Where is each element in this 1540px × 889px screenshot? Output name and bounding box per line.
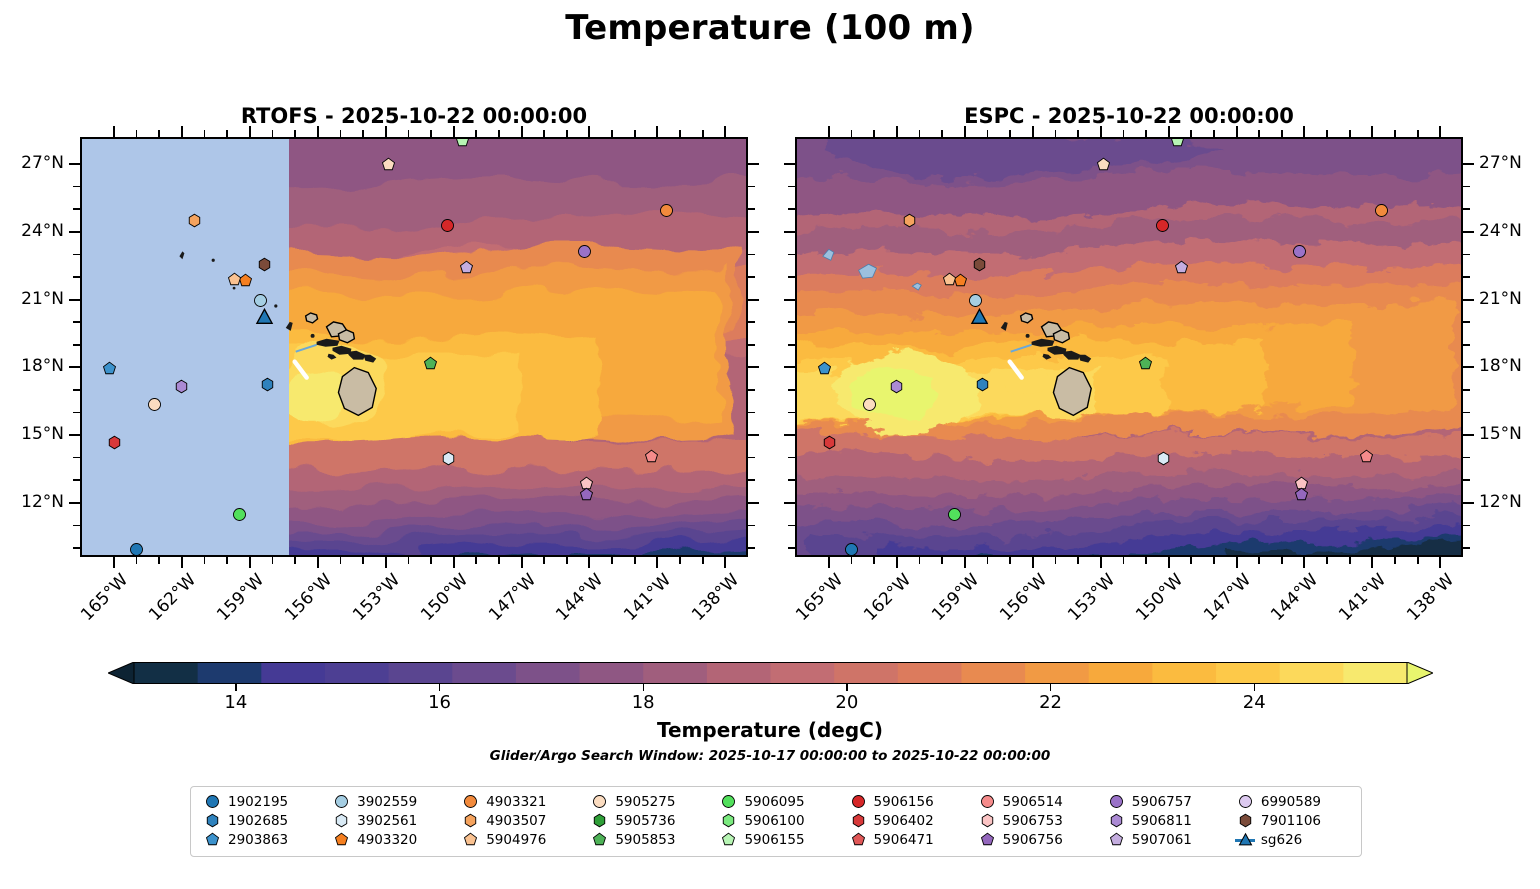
legend-marker-triangle-icon [1236, 832, 1254, 848]
ytick-minor [748, 321, 755, 323]
xtick-minor-top [294, 130, 296, 137]
legend-item-sg626[interactable]: sg626 [1228, 832, 1357, 848]
ytick-minor [748, 344, 755, 346]
ytick-major-left [69, 434, 80, 436]
float-marker-3902559[interactable] [968, 293, 983, 308]
ytick-label-left: 24°N [0, 221, 64, 241]
legend-item-5906402[interactable]: 5906402 [841, 813, 970, 829]
xtick-major-top [828, 126, 830, 137]
legend-item-2903863[interactable]: 2903863 [195, 832, 324, 848]
ytick-minor [1463, 208, 1470, 210]
xtick-minor [851, 557, 853, 564]
colorbar-tick [846, 684, 847, 691]
ytick-minor [788, 254, 795, 256]
colorbar[interactable] [108, 662, 1433, 684]
xtick-minor [340, 557, 342, 564]
xtick-minor [679, 557, 681, 564]
xtick-minor [136, 557, 138, 564]
ytick-major-right [1463, 299, 1474, 301]
ytick-minor [788, 479, 795, 481]
ytick-major-right-inner [784, 299, 795, 301]
float-marker-1902195[interactable] [129, 542, 144, 557]
ytick-minor [1463, 254, 1470, 256]
map-panel-rtofs[interactable] [80, 137, 748, 557]
float-marker-5906756[interactable] [579, 487, 594, 502]
ytick-minor [73, 254, 80, 256]
xtick-major [521, 557, 523, 568]
xtick-minor [430, 557, 432, 564]
xtick-minor [1326, 557, 1328, 564]
xtick-minor-top [1281, 130, 1283, 137]
legend-label: 6990589 [1261, 794, 1321, 810]
legend-item-5906514[interactable]: 5906514 [970, 794, 1099, 810]
float-markers-espc [797, 139, 1461, 555]
xtick-major-top [385, 126, 387, 137]
ytick-minor [73, 479, 80, 481]
float-marker-5904976[interactable] [227, 272, 242, 287]
ytick-label-left: 18°N [0, 356, 64, 376]
xtick-major [1168, 557, 1170, 568]
float-marker-4903507[interactable] [187, 213, 202, 228]
xtick-major [1371, 557, 1373, 568]
legend-item-5904976[interactable]: 5904976 [453, 832, 582, 848]
float-marker-3902559[interactable] [253, 293, 268, 308]
ytick-major-left [69, 502, 80, 504]
xtick-minor-top [272, 130, 274, 137]
xtick-minor [543, 557, 545, 564]
ytick-label-left: 15°N [0, 424, 64, 444]
legend-marker-pentagon-icon [1107, 832, 1125, 848]
ytick-minor [1463, 321, 1470, 323]
xtick-minor [158, 557, 160, 564]
xtick-major [588, 557, 590, 568]
float-marker-1902195[interactable] [844, 542, 859, 557]
xtick-major-top [1371, 126, 1373, 137]
legend-label: 5905853 [615, 832, 675, 848]
float-markers-rtofs [82, 139, 746, 555]
ytick-major-left [69, 299, 80, 301]
map-panel-espc[interactable] [795, 137, 1463, 557]
ytick-minor [748, 276, 755, 278]
xtick-major-top [181, 126, 183, 137]
legend-label: 5906100 [744, 813, 804, 829]
legend-grid: 1902195390255949033215905275590609559061… [195, 794, 1357, 848]
legend-item-5905275[interactable]: 5905275 [582, 794, 711, 810]
legend-item-5907061[interactable]: 5907061 [1099, 832, 1228, 848]
xtick-major-top [656, 126, 658, 137]
legend-item-4903320[interactable]: 4903320 [324, 832, 453, 848]
legend-marker-pentagon-icon [719, 832, 737, 848]
xtick-minor [1190, 557, 1192, 564]
legend-label: 7901106 [1261, 813, 1321, 829]
float-marker-5906757[interactable] [1292, 244, 1307, 259]
xtick-major-top [724, 126, 726, 137]
legend-label: 5905275 [615, 794, 675, 810]
ytick-major-right [1463, 502, 1474, 504]
ytick-minor [748, 254, 755, 256]
xtick-minor-top [566, 130, 568, 137]
ytick-minor [1463, 276, 1470, 278]
colorbar-label: Temperature (degC) [0, 718, 1540, 742]
legend-marker-pentagon-icon [203, 832, 221, 848]
panel-title-espc: ESPC - 2025-10-22 00:00:00 [795, 104, 1463, 128]
xtick-minor [1145, 557, 1147, 564]
xtick-major-top [1032, 126, 1034, 137]
legend-label: 4903507 [486, 813, 546, 829]
xtick-minor [1009, 557, 1011, 564]
xtick-minor-top [679, 130, 681, 137]
xtick-major-top [1303, 126, 1305, 137]
ytick-minor [788, 321, 795, 323]
float-marker-4903507[interactable] [902, 213, 917, 228]
legend-label: 5906156 [874, 794, 934, 810]
colorbar-tick [439, 684, 440, 691]
xtick-minor [566, 557, 568, 564]
float-marker-5906156[interactable] [1155, 218, 1170, 233]
ytick-minor [73, 547, 80, 549]
xtick-minor-top [611, 130, 613, 137]
ytick-major-left [69, 163, 80, 165]
xtick-major-top [896, 126, 898, 137]
search-window-text: Glider/Argo Search Window: 2025-10-17 00… [0, 748, 1540, 764]
xtick-major [1236, 557, 1238, 568]
xtick-major [385, 557, 387, 568]
ytick-minor [1463, 186, 1470, 188]
colorbar-tick [1050, 684, 1051, 691]
float-marker-3902561[interactable] [441, 451, 456, 466]
ytick-minor [73, 186, 80, 188]
ytick-minor [1463, 525, 1470, 527]
legend-label: 1902685 [228, 813, 288, 829]
xtick-major [453, 557, 455, 568]
float-marker-2903863[interactable] [102, 361, 117, 376]
xtick-major [828, 557, 830, 568]
xtick-minor-top [1077, 130, 1079, 137]
legend-marker-circle-icon [1107, 794, 1125, 810]
xtick-major-top [1439, 126, 1441, 137]
ytick-major-right-inner [784, 434, 795, 436]
ytick-minor [788, 186, 795, 188]
float-marker-1902685[interactable] [260, 377, 275, 392]
ytick-minor [73, 276, 80, 278]
legend-label: 5905736 [615, 813, 675, 829]
legend-item-5906156[interactable]: 5906156 [841, 794, 970, 810]
legend-label: 5906402 [874, 813, 934, 829]
ytick-minor [1463, 479, 1470, 481]
float-marker-5907061[interactable] [459, 260, 474, 275]
xtick-minor-top [1009, 130, 1011, 137]
legend-item-5906100[interactable]: 5906100 [711, 813, 840, 829]
ytick-minor [788, 389, 795, 391]
ytick-minor [748, 525, 755, 527]
ytick-minor [748, 479, 755, 481]
xtick-minor-top [873, 130, 875, 137]
xtick-major-top [453, 126, 455, 137]
legend-label: 5906471 [874, 832, 934, 848]
xtick-minor [475, 557, 477, 564]
legend-item-5906471[interactable]: 5906471 [841, 832, 970, 848]
legend-item-5906811[interactable]: 5906811 [1099, 813, 1228, 829]
ytick-major-right-inner [784, 163, 795, 165]
legend-item-7901106[interactable]: 7901106 [1228, 813, 1357, 829]
colorbar-tick-label: 18 [603, 692, 683, 713]
xtick-major [1303, 557, 1305, 568]
xtick-minor-top [1213, 130, 1215, 137]
xtick-minor-top [430, 130, 432, 137]
xtick-major-top [588, 126, 590, 137]
legend-label: 5906753 [1003, 813, 1063, 829]
xtick-minor-top [1123, 130, 1125, 137]
ytick-label-right: 27°N [1479, 153, 1522, 173]
colorbar-tick-label: 16 [400, 692, 480, 713]
ytick-minor [73, 412, 80, 414]
xtick-minor [702, 557, 704, 564]
float-marker-sg626[interactable] [255, 307, 274, 326]
xtick-major [896, 557, 898, 568]
legend-item-1902685[interactable]: 1902685 [195, 813, 324, 829]
xtick-minor [272, 557, 274, 564]
xtick-major [964, 557, 966, 568]
ytick-label-right: 12°N [1479, 492, 1522, 512]
xtick-major-top [1100, 126, 1102, 137]
xtick-minor-top [158, 130, 160, 137]
xtick-minor [611, 557, 613, 564]
xtick-minor [873, 557, 875, 564]
legend-marker-hexagon-icon [849, 813, 867, 829]
float-legend[interactable]: 1902195390255949033215905275590609559061… [190, 786, 1362, 857]
ytick-minor [788, 208, 795, 210]
xtick-minor-top [136, 130, 138, 137]
float-marker-4903321[interactable] [659, 203, 674, 218]
legend-item-1902195[interactable]: 1902195 [195, 794, 324, 810]
float-marker-5904976[interactable] [942, 272, 957, 287]
xtick-major-top [1168, 126, 1170, 137]
legend-label: 4903320 [357, 832, 417, 848]
ytick-major-left-inner [748, 231, 759, 233]
colorbar-tick [1254, 684, 1255, 691]
float-marker-5906402[interactable] [822, 435, 837, 450]
legend-marker-circle-icon [978, 794, 996, 810]
legend-label: 2903863 [228, 832, 288, 848]
ytick-minor [788, 457, 795, 459]
float-marker-7901106[interactable] [972, 257, 987, 272]
panel-title-rtofs: RTOFS - 2025-10-22 00:00:00 [80, 104, 748, 128]
ytick-minor [73, 457, 80, 459]
colorbar-tick [235, 684, 236, 691]
float-marker-5906095[interactable] [232, 507, 247, 522]
float-marker-7901106[interactable] [257, 257, 272, 272]
legend-label: 5906756 [1003, 832, 1063, 848]
float-marker-5906155[interactable] [455, 137, 470, 148]
colorbar-tick [643, 684, 644, 691]
xtick-minor [498, 557, 500, 564]
legend-label: sg626 [1261, 832, 1302, 848]
ytick-minor [788, 276, 795, 278]
float-marker-5906811[interactable] [889, 379, 904, 394]
legend-item-6990589[interactable]: 6990589 [1228, 794, 1357, 810]
xtick-major-top [317, 126, 319, 137]
ytick-minor [788, 344, 795, 346]
ytick-label-right: 15°N [1479, 424, 1522, 444]
xtick-minor [1417, 557, 1419, 564]
ytick-label-right: 21°N [1479, 289, 1522, 309]
xtick-major-top [249, 126, 251, 137]
ytick-minor [1463, 389, 1470, 391]
float-marker-1902685[interactable] [975, 377, 990, 392]
xtick-major [724, 557, 726, 568]
ytick-minor [1463, 412, 1470, 414]
xtick-major [181, 557, 183, 568]
float-marker-5906156[interactable] [440, 218, 455, 233]
float-marker-4903321[interactable] [1374, 203, 1389, 218]
xtick-major [1100, 557, 1102, 568]
xtick-minor [987, 557, 989, 564]
legend-label: 3902559 [357, 794, 417, 810]
ytick-major-right [1463, 231, 1474, 233]
float-marker-5905275b[interactable] [147, 397, 162, 412]
ytick-label-left: 21°N [0, 289, 64, 309]
legend-label: 4903321 [486, 794, 546, 810]
xtick-minor-top [1394, 130, 1396, 137]
legend-label: 5907061 [1132, 832, 1192, 848]
xtick-minor-top [1417, 130, 1419, 137]
xtick-minor [941, 557, 943, 564]
legend-item-5906753[interactable]: 5906753 [970, 813, 1099, 829]
xtick-minor [408, 557, 410, 564]
xtick-major-top [1236, 126, 1238, 137]
colorbar-tick-label: 24 [1214, 692, 1294, 713]
xtick-minor-top [1326, 130, 1328, 137]
xtick-minor [1349, 557, 1351, 564]
xtick-major [249, 557, 251, 568]
ytick-minor [73, 344, 80, 346]
float-marker-5905853[interactable] [1138, 356, 1153, 371]
legend-label: 5906757 [1132, 794, 1192, 810]
legend-marker-hexagon-icon [1236, 813, 1254, 829]
legend-marker-hexagon-icon [978, 813, 996, 829]
legend-marker-circle-icon [332, 794, 350, 810]
xtick-minor-top [702, 130, 704, 137]
legend-marker-pentagon-icon [332, 832, 350, 848]
float-marker-5906756[interactable] [1294, 487, 1309, 502]
float-marker-5906095[interactable] [947, 507, 962, 522]
xtick-minor [634, 557, 636, 564]
xtick-minor-top [362, 130, 364, 137]
float-marker-5906155[interactable] [1170, 137, 1185, 148]
legend-item-5905853[interactable]: 5905853 [582, 832, 711, 848]
ytick-major-right [1463, 434, 1474, 436]
ytick-major-right-inner [784, 502, 795, 504]
xtick-major [317, 557, 319, 568]
colorbar-tick-label: 22 [1011, 692, 1091, 713]
legend-item-5906756[interactable]: 5906756 [970, 832, 1099, 848]
ytick-minor [1463, 344, 1470, 346]
ytick-minor [73, 208, 80, 210]
legend-item-5906757[interactable]: 5906757 [1099, 794, 1228, 810]
legend-marker-pentagon-icon [978, 832, 996, 848]
float-marker-5906811[interactable] [174, 379, 189, 394]
ytick-major-right [1463, 163, 1474, 165]
legend-item-5906155[interactable]: 5906155 [711, 832, 840, 848]
legend-marker-circle-icon [849, 794, 867, 810]
xtick-minor-top [498, 130, 500, 137]
legend-item-3902559[interactable]: 3902559 [324, 794, 453, 810]
ytick-label-left: 12°N [0, 492, 64, 512]
legend-label: 5906811 [1132, 813, 1192, 829]
xtick-major-top [521, 126, 523, 137]
legend-label: 5904976 [486, 832, 546, 848]
ytick-major-left [69, 366, 80, 368]
float-marker-5906514[interactable] [1359, 449, 1374, 464]
ytick-minor [748, 412, 755, 414]
xtick-minor [362, 557, 364, 564]
legend-marker-hexagon-icon [461, 813, 479, 829]
legend-item-5906095[interactable]: 5906095 [711, 794, 840, 810]
float-marker-5906514[interactable] [644, 449, 659, 464]
colorbar-tick-label: 20 [807, 692, 887, 713]
ytick-minor [73, 525, 80, 527]
legend-label: 5906514 [1003, 794, 1063, 810]
ytick-major-left [69, 231, 80, 233]
float-marker-2903863[interactable] [817, 361, 832, 376]
xtick-minor-top [475, 130, 477, 137]
ytick-minor [788, 547, 795, 549]
legend-marker-circle-icon [1236, 794, 1254, 810]
xtick-minor-top [543, 130, 545, 137]
legend-marker-circle-icon [590, 794, 608, 810]
xtick-minor-top [408, 130, 410, 137]
float-marker-sg626[interactable] [970, 307, 989, 326]
float-marker-5905275[interactable] [1096, 157, 1111, 172]
legend-marker-pentagon-icon [590, 832, 608, 848]
legend-item-4903321[interactable]: 4903321 [453, 794, 582, 810]
ytick-major-left-inner [748, 502, 759, 504]
xtick-minor-top [226, 130, 228, 137]
figure-title: Temperature (100 m) [0, 8, 1540, 48]
xtick-minor [294, 557, 296, 564]
xtick-minor-top [340, 130, 342, 137]
ytick-label-right: 18°N [1479, 356, 1522, 376]
float-marker-5905275b[interactable] [862, 397, 877, 412]
float-marker-3902561[interactable] [1156, 451, 1171, 466]
legend-label: 1902195 [228, 794, 288, 810]
xtick-minor-top [851, 130, 853, 137]
xtick-minor-top [919, 130, 921, 137]
xtick-minor [226, 557, 228, 564]
legend-marker-hexagon-icon [1107, 813, 1125, 829]
ytick-minor [748, 457, 755, 459]
legend-item-3902561[interactable]: 3902561 [324, 813, 453, 829]
xtick-minor [1258, 557, 1260, 564]
xtick-minor-top [1145, 130, 1147, 137]
float-marker-5905275[interactable] [381, 157, 396, 172]
ytick-minor [748, 208, 755, 210]
legend-item-5905736[interactable]: 5905736 [582, 813, 711, 829]
ytick-minor [748, 186, 755, 188]
legend-item-4903507[interactable]: 4903507 [453, 813, 582, 829]
xtick-major [656, 557, 658, 568]
ytick-minor [748, 389, 755, 391]
colorbar-tick-label: 14 [196, 692, 276, 713]
xtick-major [1439, 557, 1441, 568]
float-marker-5907061[interactable] [1174, 260, 1189, 275]
ytick-minor [73, 321, 80, 323]
float-marker-5906757[interactable] [577, 244, 592, 259]
xtick-minor-top [204, 130, 206, 137]
float-marker-5906402[interactable] [107, 435, 122, 450]
xtick-minor [919, 557, 921, 564]
float-marker-5905853[interactable] [423, 356, 438, 371]
